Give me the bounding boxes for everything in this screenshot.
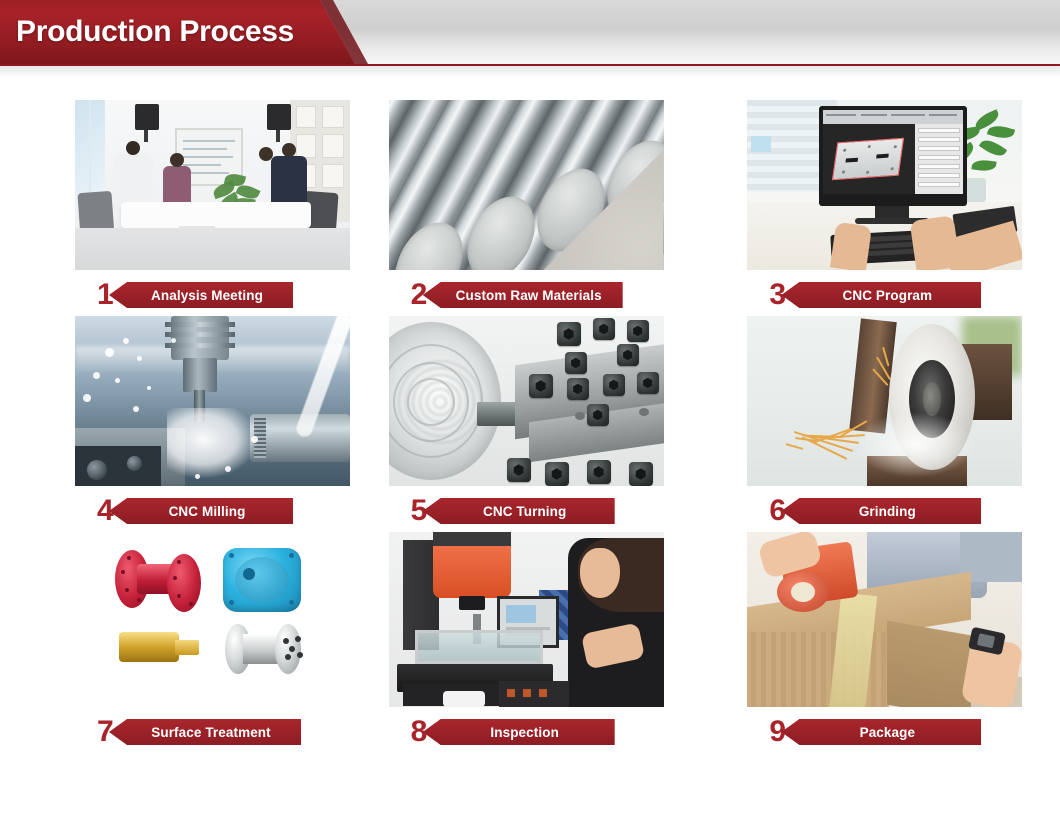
custom-raw-materials-photo [389, 100, 664, 270]
grinding-photo [747, 316, 1022, 486]
process-step-1: 1 Analysis Meeting [75, 100, 388, 316]
step-5-caption: 5 CNC Turning [389, 490, 702, 532]
process-step-6: 6 Grinding [747, 316, 1060, 532]
process-row-3: 7 Surface Treatment [0, 532, 1060, 753]
step-9-number: 9 [747, 715, 781, 749]
step-2-label: Custom Raw Materials [456, 288, 602, 303]
step-9-label: Package [860, 725, 916, 740]
process-step-5: 5 CNC Turning [389, 316, 702, 532]
step-5-label: CNC Turning [483, 504, 566, 519]
step-6-label-banner: Grinding [781, 498, 981, 524]
step-1-label-banner: Analysis Meeting [109, 282, 293, 308]
page-header: Production Process [0, 0, 1060, 78]
process-row-2: 4 CNC Milling [0, 316, 1060, 532]
step-4-label-banner: CNC Milling [109, 498, 293, 524]
process-step-8: 8 Inspection [389, 532, 702, 753]
step-7-caption: 7 Surface Treatment [75, 711, 388, 753]
step-2-number: 2 [389, 278, 423, 312]
step-7-label-banner: Surface Treatment [109, 719, 301, 745]
step-1-label: Analysis Meeting [151, 288, 263, 303]
page-title: Production Process [16, 8, 336, 56]
inspection-photo [389, 532, 664, 707]
step-8-label-banner: Inspection [423, 719, 615, 745]
step-3-caption: 3 CNC Program [747, 274, 1060, 316]
step-3-label-banner: CNC Program [781, 282, 981, 308]
step-3-label: CNC Program [843, 288, 933, 303]
cnc-milling-photo [75, 316, 350, 486]
surface-treatment-photo [75, 532, 350, 707]
step-7-label: Surface Treatment [151, 725, 271, 740]
step-1-number: 1 [75, 278, 109, 312]
step-4-label: CNC Milling [169, 504, 246, 519]
header-shadow-fade [0, 66, 1060, 78]
step-8-label: Inspection [490, 725, 559, 740]
step-9-caption: 9 Package [747, 711, 1060, 753]
step-4-number: 4 [75, 494, 109, 528]
cnc-program-photo [747, 100, 1022, 270]
step-8-caption: 8 Inspection [389, 711, 702, 753]
analysis-meeting-photo [75, 100, 350, 270]
process-step-9: 9 Package [747, 532, 1060, 753]
step-2-caption: 2 Custom Raw Materials [389, 274, 702, 316]
process-step-3: 3 CNC Program [747, 100, 1060, 316]
cnc-turning-photo [389, 316, 664, 486]
step-4-caption: 4 CNC Milling [75, 490, 388, 532]
step-7-number: 7 [75, 715, 109, 749]
step-9-label-banner: Package [781, 719, 981, 745]
step-2-label-banner: Custom Raw Materials [423, 282, 623, 308]
process-step-2: 2 Custom Raw Materials [389, 100, 702, 316]
step-6-label: Grinding [859, 504, 916, 519]
process-step-grid: 1 Analysis Meeting 2 [0, 78, 1060, 753]
step-6-caption: 6 Grinding [747, 490, 1060, 532]
step-8-number: 8 [389, 715, 423, 749]
step-3-number: 3 [747, 278, 781, 312]
process-step-4: 4 CNC Milling [75, 316, 388, 532]
process-row-1: 1 Analysis Meeting 2 [0, 100, 1060, 316]
package-photo [747, 532, 1022, 707]
process-step-7: 7 Surface Treatment [75, 532, 388, 753]
step-5-label-banner: CNC Turning [423, 498, 615, 524]
step-1-caption: 1 Analysis Meeting [75, 274, 388, 316]
step-6-number: 6 [747, 494, 781, 528]
step-5-number: 5 [389, 494, 423, 528]
